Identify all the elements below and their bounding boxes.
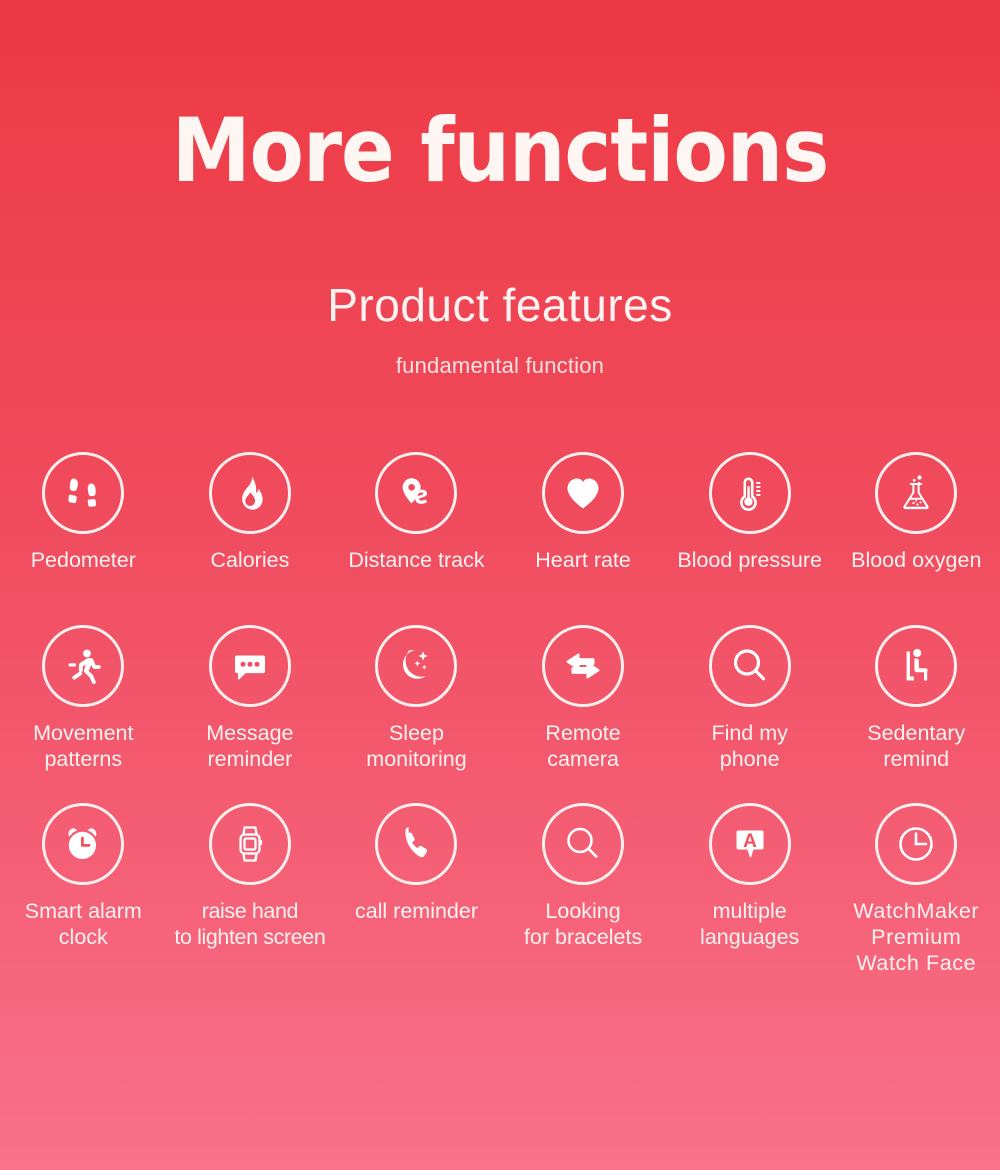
- feature-label: Movement patterns: [33, 720, 133, 772]
- page-title: More functions: [0, 105, 1000, 197]
- running-person-icon: [42, 625, 124, 707]
- feature-label: Heart rate: [535, 547, 631, 573]
- feature-label: Find my phone: [711, 720, 787, 772]
- heart-icon: [542, 452, 624, 534]
- feature-remote-camera[interactable]: Remote camera: [500, 625, 667, 772]
- feature-label: Smart alarm clock: [25, 898, 142, 950]
- feature-sleep-monitoring[interactable]: Sleep monitoring: [333, 625, 500, 772]
- feature-label: Message reminder: [206, 720, 293, 772]
- feature-watchmaker-premium[interactable]: WatchMaker Premium Watch Face: [833, 803, 1000, 976]
- feature-smart-alarm-clock[interactable]: Smart alarm clock: [0, 803, 167, 950]
- footprints-icon: [42, 452, 124, 534]
- feature-looking-for-bracelets[interactable]: Looking for bracelets: [500, 803, 667, 950]
- feature-row-3: Smart alarm clock raise hand to lighte: [0, 803, 1000, 976]
- flame-icon: [209, 452, 291, 534]
- feature-label: Distance track: [348, 547, 484, 573]
- magnifier-icon: [709, 625, 791, 707]
- section-title: Product features: [0, 278, 1000, 332]
- feature-movement-patterns[interactable]: Movement patterns: [0, 625, 167, 772]
- chat-bubble-icon: [209, 625, 291, 707]
- feature-distance-track[interactable]: Distance track: [333, 452, 500, 573]
- feature-row-1: Pedometer Calories: [0, 452, 1000, 573]
- seated-person-icon: [875, 625, 957, 707]
- alarm-clock-icon: [42, 803, 124, 885]
- feature-label: WatchMaker Premium Watch Face: [853, 898, 979, 976]
- feature-blood-pressure[interactable]: Blood pressure: [666, 452, 833, 573]
- promo-page: More functions Product features fundamen…: [0, 0, 1000, 1170]
- smartwatch-icon: [209, 803, 291, 885]
- feature-label: call reminder: [355, 898, 478, 924]
- feature-label: Blood oxygen: [851, 547, 981, 573]
- feature-label: Calories: [210, 547, 289, 573]
- feature-sedentary-remind[interactable]: Sedentary remind: [833, 625, 1000, 772]
- moon-stars-icon: [375, 625, 457, 707]
- feature-label: Looking for bracelets: [524, 898, 642, 950]
- feature-calories[interactable]: Calories: [167, 452, 334, 573]
- language-bubble-icon: A: [709, 803, 791, 885]
- feature-label: Sleep monitoring: [366, 720, 466, 772]
- feature-call-reminder[interactable]: call reminder: [333, 803, 500, 924]
- feature-heart-rate[interactable]: Heart rate: [500, 452, 667, 573]
- feature-find-my-phone[interactable]: Find my phone: [666, 625, 833, 772]
- feature-label: multiple languages: [700, 898, 799, 950]
- feature-label: Pedometer: [31, 547, 136, 573]
- svg-text:A: A: [743, 831, 757, 852]
- feature-row-2: Movement patterns Message: [0, 625, 1000, 772]
- feature-label: Remote camera: [545, 720, 620, 772]
- thermometer-icon: [709, 452, 791, 534]
- two-way-arrows-icon: [542, 625, 624, 707]
- feature-blood-oxygen[interactable]: Blood oxygen: [833, 452, 1000, 573]
- feature-label: Blood pressure: [677, 547, 822, 573]
- feature-message-reminder[interactable]: Message reminder: [167, 625, 334, 772]
- clock-icon: [875, 803, 957, 885]
- feature-pedometer[interactable]: Pedometer: [0, 452, 167, 573]
- feature-raise-hand-lighten-screen[interactable]: raise hand to lighten screen: [167, 803, 334, 950]
- feature-multiple-languages[interactable]: A multiple languages: [666, 803, 833, 950]
- section-subtitle: fundamental function: [0, 353, 1000, 379]
- feature-label: raise hand to lighten screen: [174, 898, 325, 950]
- magnifier-outline-icon: [542, 803, 624, 885]
- phone-handset-icon: [375, 803, 457, 885]
- feature-label: Sedentary remind: [867, 720, 965, 772]
- flask-icon: [875, 452, 957, 534]
- map-pin-route-icon: [375, 452, 457, 534]
